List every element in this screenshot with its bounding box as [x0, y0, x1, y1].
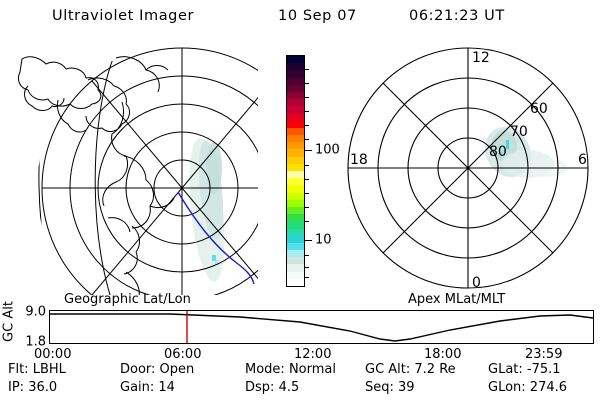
altitude-trace — [50, 311, 593, 343]
status-value: -75.1 — [527, 362, 561, 377]
colorbar-segment-31 — [287, 279, 304, 286]
colorbar-segment-20 — [287, 200, 304, 207]
colorbar-minor-tick-13 — [304, 277, 309, 278]
status-value: 4.5 — [279, 380, 300, 395]
apex-mlt-panel: 12 6 0 18 60 70 80 — [332, 40, 600, 295]
orbit-x-tick-1200: 12:00 — [294, 347, 331, 362]
colorbar-minor-tick-2 — [304, 97, 309, 98]
status-key: GLon: — [488, 380, 530, 395]
colorbar-segment-1 — [287, 63, 304, 70]
orbit-y-ticks: 9.01.8 — [0, 306, 46, 348]
observation-time: 06:21:23 UT — [409, 8, 505, 24]
colorbar-segment-22 — [287, 214, 304, 221]
colorbar-segment-5 — [287, 92, 304, 99]
latitude-graticule — [42, 48, 258, 295]
status-ip: IP: 36.0 — [8, 380, 57, 395]
colorbar-segment-24 — [287, 229, 304, 236]
orbit-x-tick-1800: 18:00 — [424, 347, 461, 362]
status-value: 7.2 Re — [414, 362, 455, 377]
colorbar-segment-23 — [287, 221, 304, 228]
colorbar-major-tick-1 — [304, 240, 312, 241]
instrument-title: Ultraviolet Imager — [52, 8, 194, 24]
status-block: Flt: LBHLDoor: OpenMode: NormalGC Alt: 7… — [0, 362, 600, 400]
colorbar-segment-12 — [287, 142, 304, 149]
mlat-label-80: 80 — [489, 144, 507, 160]
colorbar-segment-15 — [287, 164, 304, 171]
status-key: Mode: — [245, 362, 289, 377]
status-value: 36.0 — [28, 380, 57, 395]
geographic-projection — [0, 40, 258, 295]
colorbar-segment-30 — [287, 272, 304, 279]
colorbar-segment-6 — [287, 99, 304, 106]
colorbar-minor-tick-12 — [304, 267, 309, 268]
status-glon: GLon: 274.6 — [488, 380, 567, 395]
status-mode: Mode: Normal — [245, 362, 336, 377]
colorbar-tick-label-10: 10 — [315, 234, 332, 247]
colorbar-segment-2 — [287, 70, 304, 77]
colorbar-segment-8 — [287, 114, 304, 121]
status-value: LBHL — [33, 362, 66, 377]
orbit-y-tick-9.0: 9.0 — [25, 306, 46, 319]
colorbar-segment-27 — [287, 250, 304, 257]
colorbar-segment-16 — [287, 171, 304, 178]
colorbar-segment-28 — [287, 257, 304, 264]
status-key: GLat: — [488, 362, 527, 377]
orbit-plot-area[interactable] — [49, 310, 594, 344]
colorbar-segment-13 — [287, 149, 304, 156]
status-value: Open — [160, 362, 195, 377]
colorbar-major-tick-0 — [304, 150, 312, 151]
mlat-label-70: 70 — [510, 124, 528, 140]
colorbar-segment-18 — [287, 185, 304, 192]
status-value: 274.6 — [530, 380, 567, 395]
colorbar-segment-4 — [287, 85, 304, 92]
colorbar-segment-21 — [287, 207, 304, 214]
status-value: 14 — [158, 380, 175, 395]
colorbar-segment-17 — [287, 178, 304, 185]
status-door: Door: Open — [120, 362, 194, 377]
status-glat: GLat: -75.1 — [488, 362, 561, 377]
status-key: Seq: — [365, 380, 398, 395]
mlt-spokes — [348, 48, 588, 288]
status-value: Normal — [289, 362, 336, 377]
status-key: Door: — [120, 362, 160, 377]
colorbar-minor-tick-0 — [304, 69, 309, 70]
colorbar-segment-19 — [287, 193, 304, 200]
limb-meridians — [39, 42, 126, 295]
colorbar-segment-9 — [287, 121, 304, 128]
colorbar-segment-29 — [287, 264, 304, 271]
status-gc-alt: GC Alt: 7.2 Re — [365, 362, 456, 377]
colorbar-minor-tick-6 — [304, 165, 309, 166]
mlt-dial: 12 6 0 18 60 70 80 — [332, 40, 600, 295]
colorbar-minor-tick-5 — [304, 139, 309, 140]
apex-caption: Apex MLat/MLT — [408, 292, 505, 307]
colorbar-segment-0 — [287, 56, 304, 63]
header-bar: Ultraviolet Imager 10 Sep 07 06:21:23 UT — [0, 4, 600, 30]
status-key: Gain: — [120, 380, 158, 395]
altitude-curve — [50, 314, 593, 341]
colorbar: photon cm-2s-1 10010 — [258, 45, 338, 295]
orbit-x-tick-0000: 00:00 — [34, 347, 71, 362]
colorbar-segment-11 — [287, 135, 304, 142]
colorbar-segment-7 — [287, 106, 304, 113]
orbit-x-tick-0600: 06:00 — [164, 347, 201, 362]
status-key: Dsp: — [245, 380, 279, 395]
colorbar-segment-25 — [287, 236, 304, 243]
colorbar-gradient — [286, 55, 305, 287]
status-seq: Seq: 39 — [365, 380, 415, 395]
colorbar-minor-tick-7 — [304, 179, 309, 180]
colorbar-minor-tick-10 — [304, 221, 309, 222]
status-key: GC Alt: — [365, 362, 414, 377]
orbit-altitude-strip: GC Alt 9.01.8 00:0006:0012:0018:0023:59 — [0, 306, 600, 354]
colorbar-minor-tick-11 — [304, 255, 309, 256]
status-dsp: Dsp: 4.5 — [245, 380, 299, 395]
mlt-label-0: 0 — [472, 275, 481, 291]
observation-date: 10 Sep 07 — [278, 8, 357, 24]
colorbar-segment-3 — [287, 78, 304, 85]
colorbar-segment-26 — [287, 243, 304, 250]
mlat-label-60: 60 — [530, 101, 548, 117]
colorbar-minor-tick-8 — [304, 193, 309, 194]
status-gain: Gain: 14 — [120, 380, 175, 395]
uvi-summary-window: Ultraviolet Imager 10 Sep 07 06:21:23 UT — [0, 0, 600, 400]
colorbar-minor-tick-1 — [304, 83, 309, 84]
colorbar-minor-tick-4 — [304, 125, 309, 126]
status-value: 39 — [398, 380, 415, 395]
colorbar-segment-10 — [287, 128, 304, 135]
geographic-caption: Geographic Lat/Lon — [64, 292, 191, 307]
colorbar-minor-tick-3 — [304, 111, 309, 112]
colorbar-segment-14 — [287, 157, 304, 164]
mlt-label-12: 12 — [472, 50, 490, 66]
status-flt: Flt: LBHL — [8, 362, 66, 377]
colorbar-minor-tick-9 — [304, 207, 309, 208]
mlt-label-18: 18 — [350, 152, 368, 168]
status-key: Flt: — [8, 362, 33, 377]
orbit-x-tick-2359: 23:59 — [525, 347, 562, 362]
status-key: IP: — [8, 380, 28, 395]
geographic-panel — [0, 40, 258, 295]
mlt-label-6: 6 — [578, 152, 587, 168]
